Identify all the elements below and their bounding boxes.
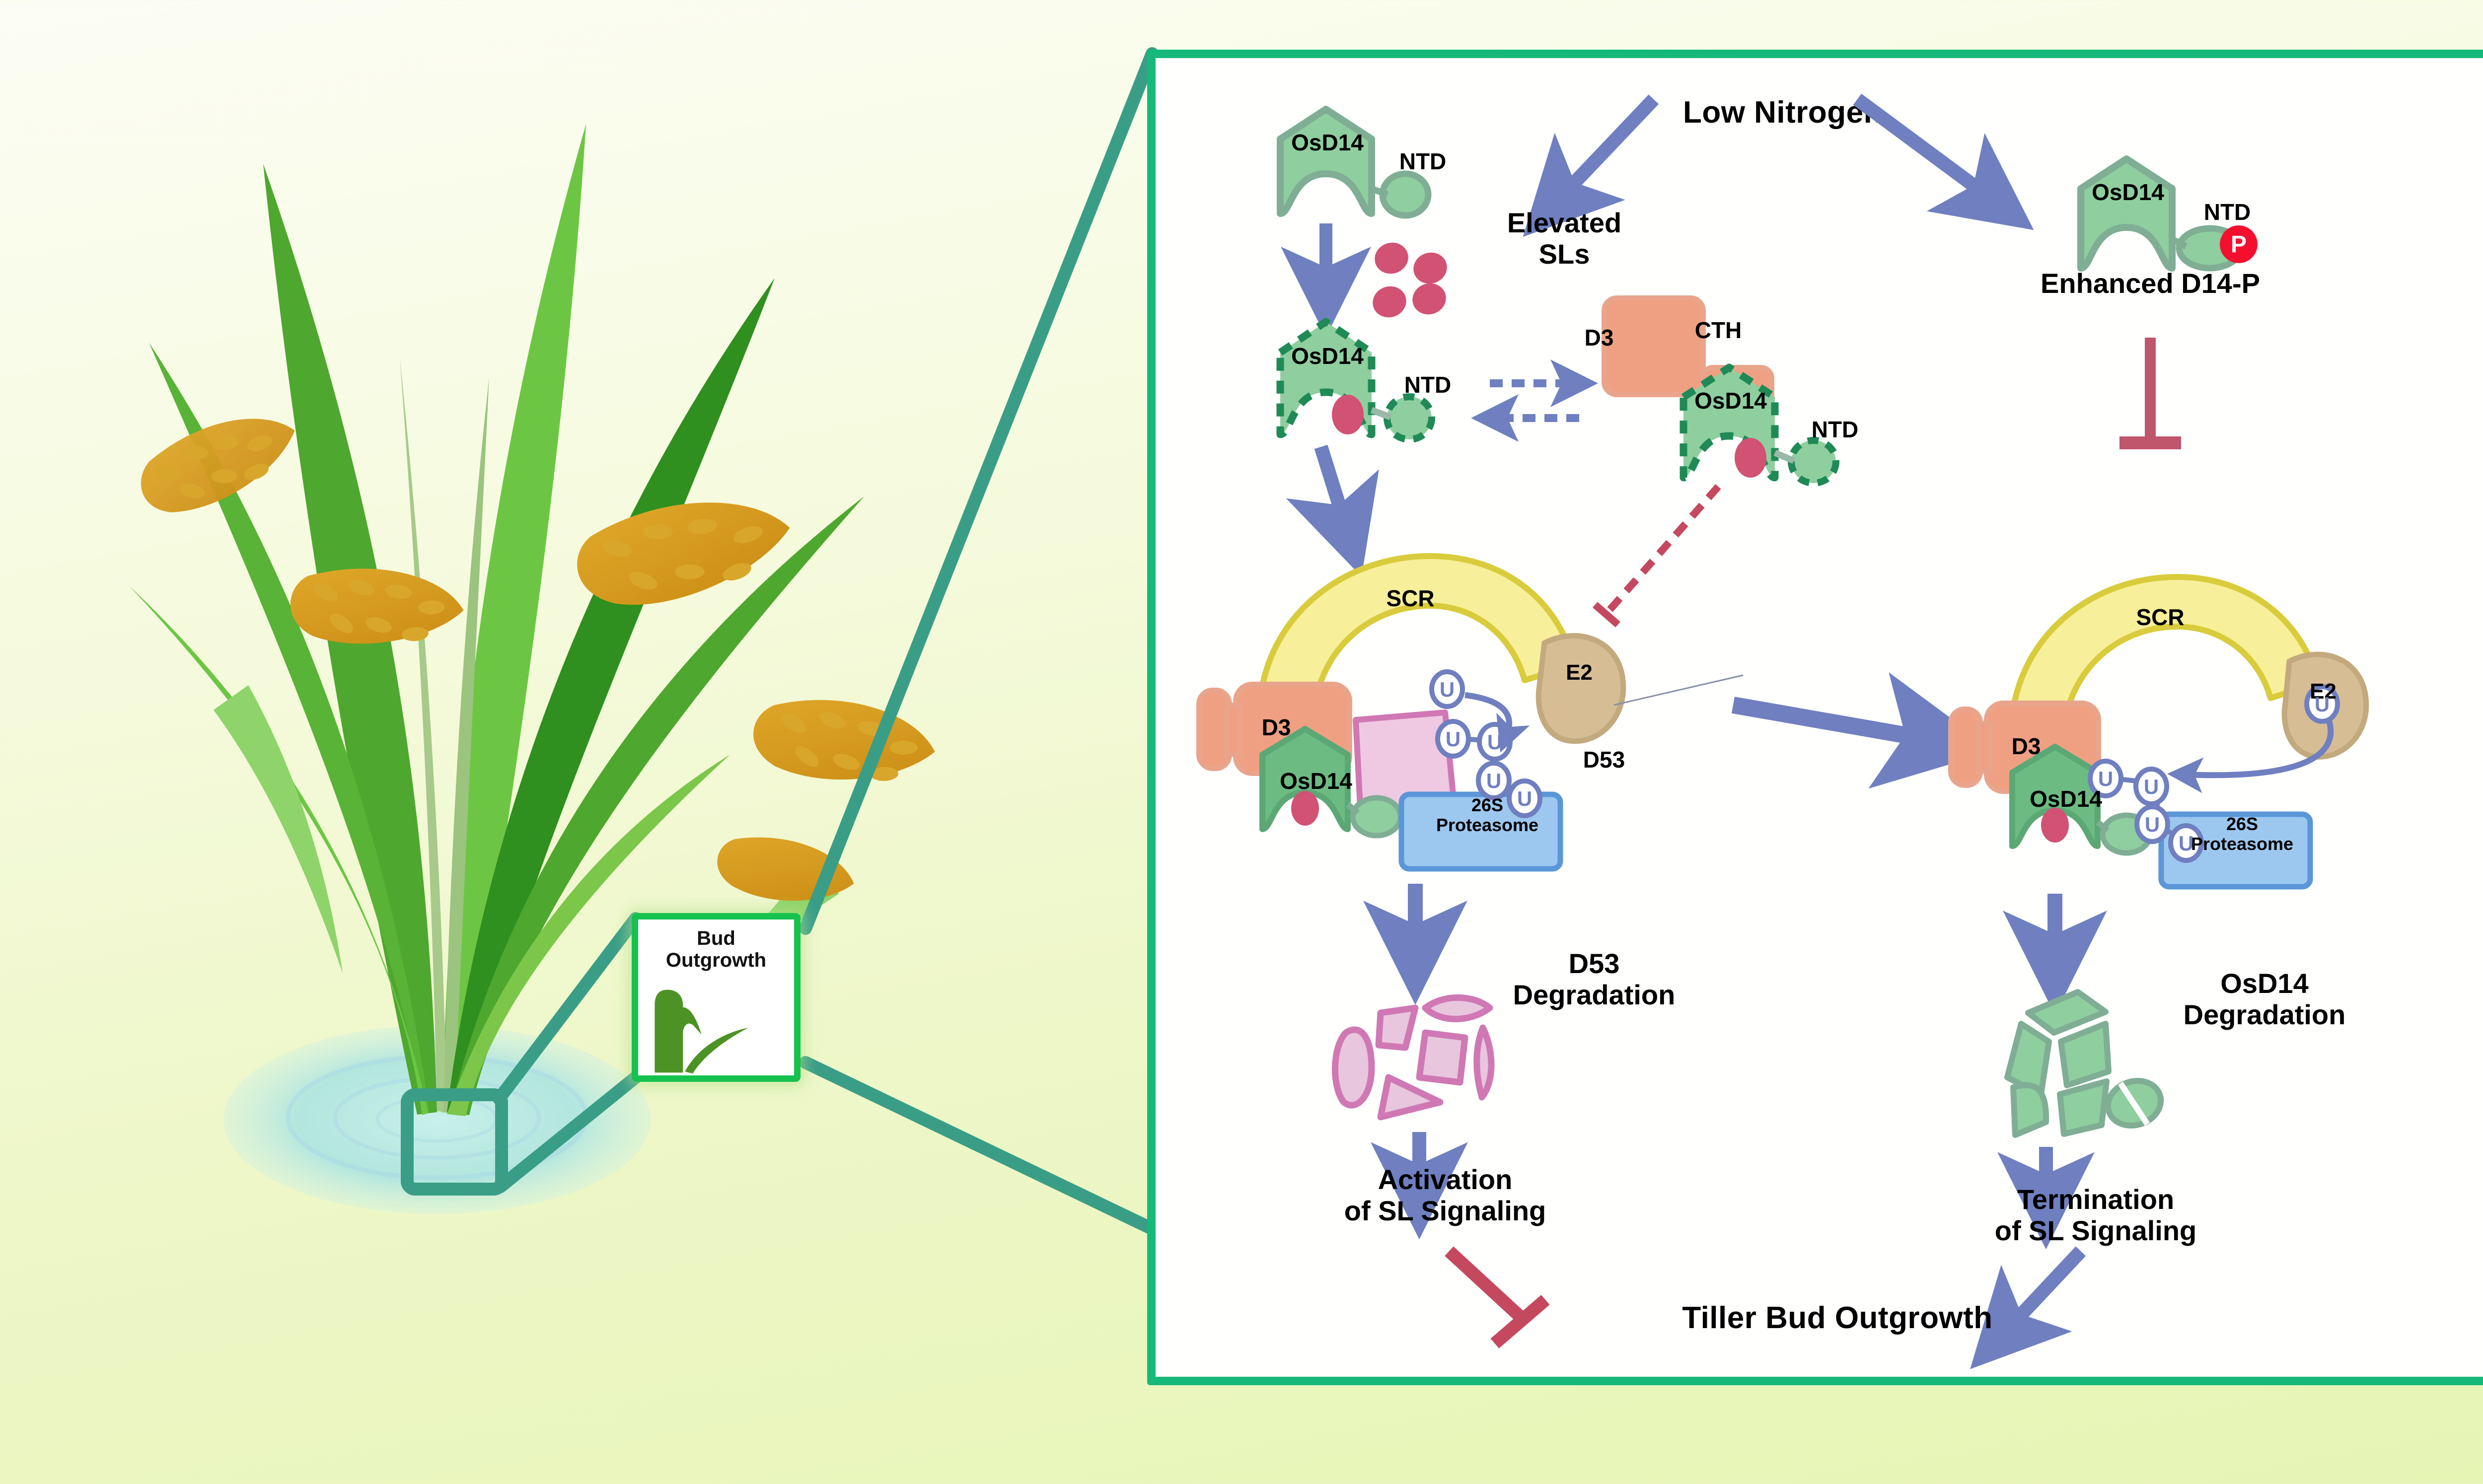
inhibition-arrow-bottom: [1449, 1251, 1545, 1343]
d3-label-right: D3: [1991, 734, 2061, 760]
proteasome-label-right: 26S Proteasome: [2170, 814, 2314, 854]
equilibrium-arrows: [1490, 383, 1579, 418]
osd14-activated-left-label: OsD14: [1275, 344, 1380, 369]
osd14-activated-left-ntd-label: NTD: [1390, 372, 1465, 398]
phospho-label: P: [2231, 231, 2247, 258]
osd14-label-left-complex: OsD14: [1261, 769, 1371, 794]
e2-label-right: E2: [2288, 679, 2358, 704]
d3-label-left: D3: [1241, 715, 1311, 741]
arrow-low-nitrogen-right: [1857, 99, 1991, 199]
cth-module-label: CTH: [1679, 318, 1758, 344]
bud-outgrowth-inset[interactable]: Bud Outgrowth: [632, 913, 801, 1082]
arrow-low-nitrogen-left: [1559, 99, 1654, 199]
osd14-label-right-complex: OsD14: [2011, 786, 2120, 812]
d3-module-label: D3: [1569, 325, 1629, 351]
figure-root: Bud Outgrowth Low Nitrogen: [0, 0, 2483, 1484]
e2-label-left: E2: [1544, 660, 1614, 685]
enhanced-d14p-label: Enhanced D14-P: [1986, 268, 2314, 299]
inhibition-bar-right: [2119, 338, 2181, 443]
panel-callout-connectors: [775, 40, 1172, 1231]
osd14-fragments: [2007, 992, 2167, 1135]
arrow-left-to-right-complex: [1733, 705, 1932, 740]
osd14-activated-right-label: OsD14: [1679, 388, 1783, 414]
osd14-phospho-ntd-label: NTD: [2190, 200, 2264, 225]
osd14-activated-right-ntd-label: NTD: [1798, 417, 1872, 443]
termination-sl-signaling-label: Termination of SL Signaling: [1947, 1184, 2245, 1246]
proteasome-label-left: 26S Proteasome: [1413, 795, 1562, 836]
activation-sl-signaling-label: Activation of SL Signaling: [1296, 1164, 1594, 1226]
d53-degradation-label: D53 Degradation: [1490, 948, 1698, 1010]
scr-label-right: SCR: [2111, 605, 2210, 631]
bud-outgrowth-caption: Bud Outgrowth: [638, 927, 794, 971]
thin-guide-line: [1614, 675, 1743, 705]
osd14-degradation-label: OsD14 Degradation: [2150, 968, 2379, 1030]
arrow-to-complex-left: [1321, 447, 1346, 526]
scr-label-left: SCR: [1361, 586, 1460, 612]
bud-icon: [638, 979, 794, 1078]
tiller-bud-outgrowth-label: Tiller Bud Outgrowth: [1614, 1301, 2061, 1335]
sl-molecules: [1369, 238, 1451, 322]
d53-label-left: D53: [1559, 747, 1649, 773]
elevated-sls-label: Elevated SLs: [1490, 208, 1639, 270]
osd14-phospho-label: OsD14: [2076, 180, 2180, 206]
osd14-receptor-left-label: OsD14: [1275, 130, 1380, 156]
d53-fragments: [1335, 997, 1491, 1117]
osd14-receptor-left-ntd-label: NTD: [1386, 149, 1460, 175]
inhibition-dashed-red: [1595, 487, 1718, 625]
